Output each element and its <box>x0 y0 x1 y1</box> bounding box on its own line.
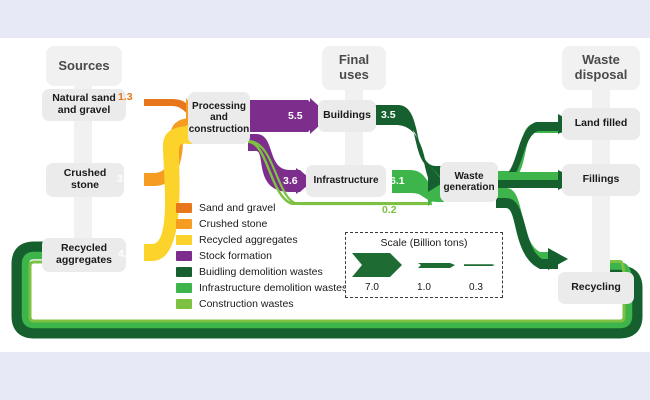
flow-label-recycled: 4.5 <box>118 248 133 260</box>
legend-swatch-sand-and-gravel <box>176 203 192 213</box>
node-crushed-stone[interactable]: Crushed stone <box>46 163 124 197</box>
node-buildings[interactable]: Buildings <box>318 100 376 132</box>
legend-item: Infrastructure demolition wastes <box>176 280 347 296</box>
legend-label-infrastructure-demolition-wastes: Infrastructure demolition wastes <box>199 282 347 294</box>
legend-label-crushed-stone: Crushed stone <box>199 218 267 230</box>
flow-label-construction-wastes-text: 0.2 <box>382 204 397 216</box>
node-processing-line1: Processing <box>192 101 246 112</box>
scale-arrow-7 <box>352 253 402 277</box>
node-processing-and-construction[interactable]: Processing and construction <box>188 92 250 144</box>
flow-waste-to-fillings-dark <box>496 180 566 188</box>
legend: Sand and gravel Crushed stone Recycled a… <box>176 200 347 312</box>
scale-arrows <box>346 249 502 281</box>
legend-label-sand-and-gravel: Sand and gravel <box>199 202 275 214</box>
flow-label-infrastructure-to-waste: 6.1 <box>390 175 405 187</box>
node-land-filled-label: Land filled <box>575 118 628 130</box>
node-fillings-label: Fillings <box>583 174 620 186</box>
node-land-filled[interactable]: Land filled <box>562 108 640 140</box>
flow-label-sand-gravel: 1.3 <box>118 91 133 103</box>
flow-label-processing-to-infrastructure-text: 3.6 <box>283 175 298 187</box>
scale-arrow-1 <box>418 263 455 268</box>
legend-swatch-building-demolition-wastes <box>176 267 192 277</box>
scale-tick-1: 1.0 <box>417 282 431 293</box>
flow-label-processing-to-buildings: 5.5 <box>288 110 303 122</box>
legend-label-recycled-aggregates: Recycled aggregates <box>199 234 298 246</box>
flow-label-sand-gravel-text: 1.3 <box>118 91 133 103</box>
scale-tick-labels: 7.0 1.0 0.3 <box>346 282 502 293</box>
legend-swatch-construction-wastes <box>176 299 192 309</box>
column-header-sources: Sources <box>46 46 122 86</box>
node-buildings-label: Buildings <box>323 110 371 122</box>
flow-label-processing-to-infrastructure: 3.6 <box>283 175 298 187</box>
node-recycling[interactable]: Recycling <box>558 272 634 304</box>
scale-legend-box: Scale (Billion tons) 7.0 1.0 0.3 <box>345 232 503 298</box>
node-recycled-aggregates-line2: aggregates <box>56 255 112 267</box>
legend-swatch-recycled-aggregates <box>176 235 192 245</box>
node-waste-generation-line2: generation <box>443 182 494 193</box>
column-header-waste-disposal-line1: Waste <box>582 53 620 68</box>
legend-item: Stock formation <box>176 248 347 264</box>
scale-tick-7: 7.0 <box>365 282 379 293</box>
scale-title: Scale (Billion tons) <box>346 233 502 249</box>
column-header-final-uses-line1: Final <box>339 53 369 68</box>
node-recycled-aggregates[interactable]: Recycled aggregates <box>42 238 126 272</box>
column-header-waste-disposal: Waste disposal <box>562 46 640 90</box>
legend-swatch-crushed-stone <box>176 219 192 229</box>
sankey-diagram-figure: Sources Final uses Waste disposal Natura… <box>0 0 650 400</box>
legend-item: Recycled aggregates <box>176 232 347 248</box>
legend-label-stock-formation: Stock formation <box>199 250 272 262</box>
node-waste-generation[interactable]: Waste generation <box>440 162 498 202</box>
flow-label-processing-to-buildings-text: 5.5 <box>288 110 303 122</box>
node-crushed-stone-line2: stone <box>71 180 99 192</box>
flow-label-recycled-text: 4.5 <box>118 248 133 260</box>
flow-label-buildings-to-waste-text: 3.5 <box>381 109 396 121</box>
flow-label-construction-wastes: 0.2 <box>382 204 397 216</box>
legend-swatch-infrastructure-demolition-wastes <box>176 283 192 293</box>
scale-tick-03: 0.3 <box>469 282 483 293</box>
flow-label-infrastructure-to-waste-text: 6.1 <box>390 175 405 187</box>
legend-label-building-demolition-wastes: Buidling demolition wastes <box>199 266 323 278</box>
node-processing-line3: construction <box>189 124 250 135</box>
legend-swatch-stock-formation <box>176 251 192 261</box>
column-header-final-uses: Final uses <box>322 46 386 90</box>
legend-label-construction-wastes: Construction wastes <box>199 298 294 310</box>
node-recycling-label: Recycling <box>571 282 621 294</box>
column-header-final-uses-line2: uses <box>339 68 369 83</box>
flow-waste-to-fillings-medium <box>496 172 566 180</box>
legend-item: Buidling demolition wastes <box>176 264 347 280</box>
flow-label-buildings-to-waste: 3.5 <box>381 109 396 121</box>
node-natural-sand-and-gravel-line2: and gravel <box>58 105 111 117</box>
legend-item: Sand and gravel <box>176 200 347 216</box>
legend-item: Construction wastes <box>176 296 347 312</box>
flow-label-crushed-stone-text: 3.6 <box>117 173 132 185</box>
node-fillings[interactable]: Fillings <box>562 164 640 196</box>
node-natural-sand-and-gravel[interactable]: Natural sand and gravel <box>42 89 126 121</box>
node-infrastructure-label: Infrastructure <box>313 175 378 186</box>
node-waste-generation-line1: Waste <box>454 171 483 182</box>
flow-label-crushed-stone: 3.6 <box>117 173 132 185</box>
column-header-sources-label: Sources <box>58 59 109 74</box>
node-infrastructure[interactable]: Infrastructure <box>306 165 386 197</box>
legend-item: Crushed stone <box>176 216 347 232</box>
node-processing-line2: and <box>210 112 228 123</box>
column-header-waste-disposal-line2: disposal <box>575 68 628 83</box>
scale-arrow-03 <box>464 264 495 266</box>
